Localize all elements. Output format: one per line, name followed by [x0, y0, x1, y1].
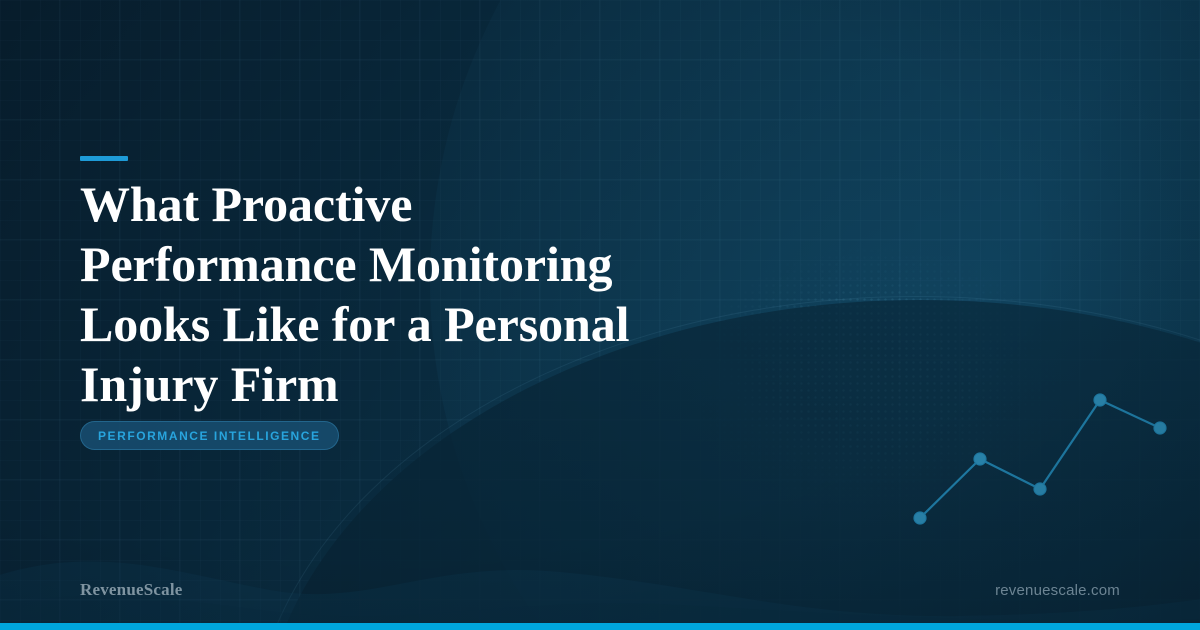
page-title: What Proactive Performance Monitoring Lo…	[80, 174, 700, 414]
chart-data-point	[914, 512, 926, 524]
chart-data-point	[1094, 394, 1106, 406]
chart-data-point	[1154, 422, 1166, 434]
accent-rule	[80, 156, 128, 161]
footer-url: revenuescale.com	[995, 582, 1120, 599]
performance-line-chart	[890, 370, 1190, 550]
chart-data-point	[1034, 483, 1046, 495]
chart-line-path	[920, 400, 1160, 518]
og-card-canvas: What Proactive Performance Monitoring Lo…	[0, 0, 1200, 630]
bottom-accent-bar	[0, 623, 1200, 630]
chart-data-point	[974, 453, 986, 465]
status-badge-label: PERFORMANCE INTELLIGENCE	[98, 429, 321, 443]
brand-wordmark: RevenueScale	[80, 580, 183, 600]
status-badge: PERFORMANCE INTELLIGENCE	[80, 421, 339, 450]
